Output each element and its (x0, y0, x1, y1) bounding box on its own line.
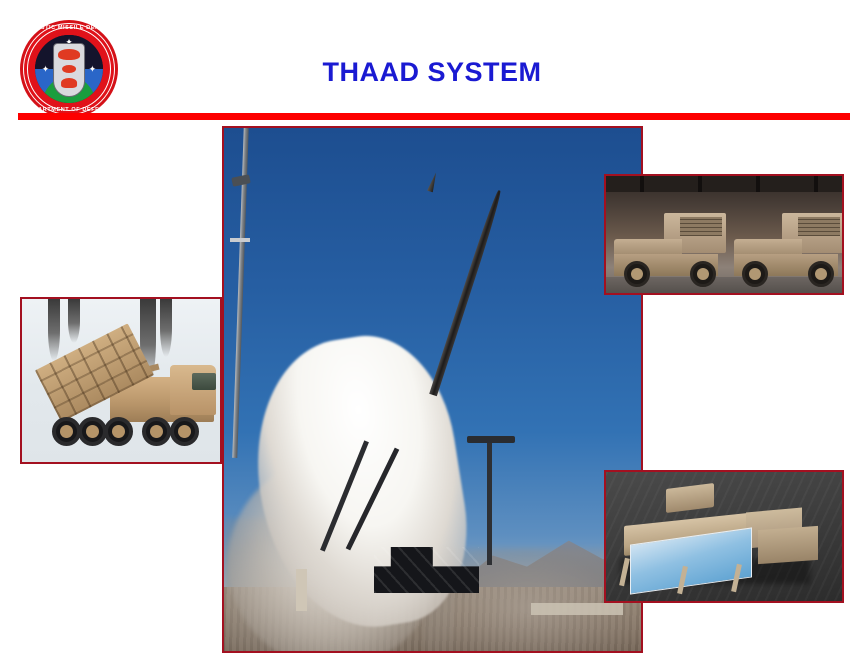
launch-pad-trusses (374, 547, 479, 593)
hmmwv-wheel-rear-right (808, 261, 834, 287)
truck-wheel-2 (78, 417, 107, 446)
truck-wheel-1 (52, 417, 81, 446)
photo-launcher-truck (20, 297, 222, 464)
truck-wheel-5 (170, 417, 199, 446)
truck-wheel-3 (104, 417, 133, 446)
photo-command-hmmwvs (604, 174, 844, 295)
truck-windshield (192, 373, 216, 390)
launch-marker-post (296, 569, 307, 611)
hmmwv-wheel-front-right (742, 261, 768, 287)
launch-light-fixture-icon (467, 436, 515, 443)
page-title: THAAD SYSTEM (0, 57, 864, 88)
header-divider (18, 113, 850, 120)
seal-text-top: BALLISTIC MISSILE DEFENSE (20, 25, 118, 31)
photo-radar-system (604, 470, 844, 603)
photo-missile-launch (222, 126, 643, 653)
launch-range-building (531, 603, 623, 615)
truck-ice-column-4 (160, 299, 172, 357)
launch-mast-crossbar (230, 238, 250, 242)
hmmwv-vehicle-right (734, 213, 844, 287)
truck-ice-column-1 (48, 299, 60, 361)
hmmwv-wheel-front-left (624, 261, 650, 287)
truck-wheel-4 (142, 417, 171, 446)
launch-light-pole (487, 437, 492, 565)
hmmwv-shelter-vent-left (680, 217, 722, 236)
slide-canvas: BALLISTIC MISSILE DEFENSE DEPARTMENT OF … (0, 0, 864, 667)
hmmwv-wheel-rear-left (690, 261, 716, 287)
truck-ice-column-2 (68, 299, 80, 343)
radar-power-unit (758, 526, 818, 564)
hmmwv-shelter-vent-right (798, 217, 840, 236)
hmmwv-ceiling-beam (606, 176, 842, 192)
hmmwv-vehicle-left (614, 213, 726, 287)
